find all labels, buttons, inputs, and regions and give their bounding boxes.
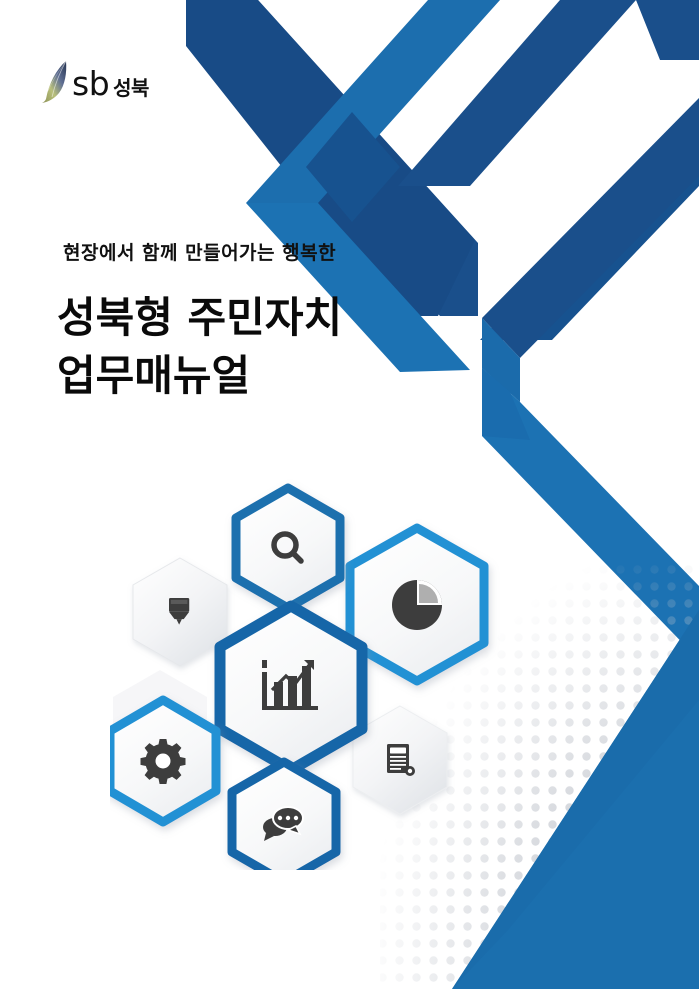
- pie-chart-icon: [392, 580, 442, 630]
- hexagon-bar-chart: [220, 606, 362, 770]
- logo: sb 성북: [40, 58, 149, 106]
- logo-wordmark: sb: [72, 67, 109, 100]
- hexagon-pencil: [133, 556, 227, 666]
- cover-title-line-2: 업무매뉴얼: [57, 347, 457, 405]
- hexagon-chat: [232, 762, 336, 870]
- sb-leaf-mark-icon: [40, 61, 70, 103]
- hexagon-gear: [110, 700, 216, 822]
- logo-org-name: 성북: [113, 72, 149, 101]
- hexagon-icon-cluster: [110, 470, 510, 870]
- cover-title-line-1: 성북형 주민자치: [57, 289, 457, 347]
- document-cover-page: sb 성북 현장에서 함께 만들어가는 행복한 성북형 주민자치 업무매뉴얼: [0, 0, 699, 989]
- hexagon-pie-chart: [350, 528, 484, 681]
- title-block: 현장에서 함께 만들어가는 행복한 성북형 주민자치 업무매뉴얼: [57, 238, 457, 405]
- gear-icon: [141, 739, 186, 784]
- cover-subtitle: 현장에서 함께 만들어가는 행복한: [63, 238, 457, 265]
- hexagon-search: [236, 488, 340, 608]
